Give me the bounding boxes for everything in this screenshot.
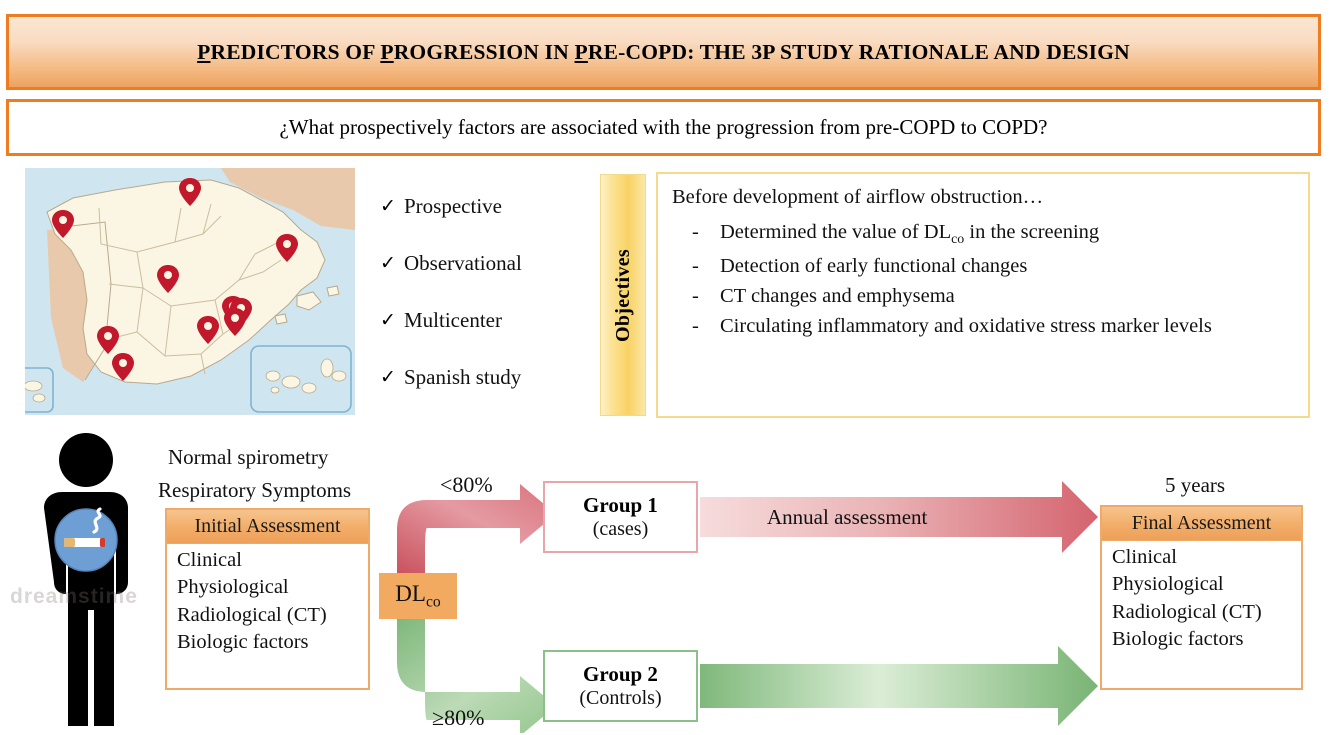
group2-subtitle: (Controls) bbox=[579, 686, 661, 710]
check-icon: ✓ bbox=[380, 195, 404, 218]
page-title-banner: PREDICTORS OF PROGRESSION IN PRE-COPD: T… bbox=[6, 14, 1321, 90]
initial-assessment-body: Clinical Physiological Radiological (CT)… bbox=[167, 544, 368, 658]
assessment-item: Physiological bbox=[177, 574, 368, 601]
check-icon: ✓ bbox=[380, 252, 404, 275]
person-silhouette bbox=[28, 430, 173, 730]
initial-assessment-header: Initial Assessment bbox=[167, 510, 368, 544]
group1-subtitle: (cases) bbox=[593, 517, 649, 541]
study-attributes-list: ✓ Prospective ✓ Observational ✓ Multicen… bbox=[380, 178, 585, 408]
objectives-tab: Objectives bbox=[600, 174, 646, 416]
assessment-item: Radiological (CT) bbox=[177, 602, 368, 629]
objectives-box: Before development of airflow obstructio… bbox=[656, 172, 1310, 418]
page-title: PREDICTORS OF PROGRESSION IN PRE-COPD: T… bbox=[197, 40, 1130, 65]
objective-label: Circulating inflammatory and oxidative s… bbox=[720, 315, 1212, 338]
objective-item: - Detection of early functional changes bbox=[672, 255, 1298, 278]
objective-label: Determined the value of DLco in the scre… bbox=[720, 221, 1099, 248]
person-head bbox=[59, 433, 113, 487]
objective-label: Detection of early functional changes bbox=[720, 255, 1027, 278]
list-item: ✓ Spanish study bbox=[380, 349, 585, 406]
objectives-intro: Before development of airflow obstructio… bbox=[672, 186, 1298, 209]
list-item: ✓ Observational bbox=[380, 235, 585, 292]
research-question-text: ¿What prospectively factors are associat… bbox=[279, 115, 1047, 140]
bullet-dash: - bbox=[672, 255, 720, 278]
five-years-label: 5 years bbox=[1165, 473, 1225, 498]
assessment-item: Biologic factors bbox=[177, 629, 368, 656]
final-assessment-body: Clinical Physiological Radiological (CT)… bbox=[1102, 541, 1301, 655]
group2-title: Group 2 bbox=[583, 662, 658, 686]
check-icon: ✓ bbox=[380, 309, 404, 332]
group2-box: Group 2 (Controls) bbox=[543, 650, 698, 722]
smoking-person-icon bbox=[28, 430, 173, 730]
list-item-label: Multicenter bbox=[404, 308, 502, 333]
bullet-dash: - bbox=[672, 221, 720, 248]
check-icon: ✓ bbox=[380, 366, 404, 389]
map-of-spain bbox=[25, 168, 355, 415]
list-item: ✓ Prospective bbox=[380, 178, 585, 235]
list-item-label: Prospective bbox=[404, 194, 502, 219]
objectives-panel: Objectives Before development of airflow… bbox=[600, 172, 1310, 418]
assessment-item: Radiological (CT) bbox=[1112, 599, 1301, 626]
assessment-item: Biologic factors bbox=[1112, 626, 1301, 653]
objective-label: CT changes and emphysema bbox=[720, 285, 955, 308]
branch-low-label: <80% bbox=[440, 472, 493, 498]
list-item-label: Observational bbox=[404, 251, 522, 276]
dlco-decision-node: DLco bbox=[379, 573, 457, 619]
group1-box: Group 1 (cases) bbox=[543, 481, 698, 553]
final-assessment-card: Final Assessment Clinical Physiological … bbox=[1100, 505, 1303, 690]
objective-item: - CT changes and emphysema bbox=[672, 285, 1298, 308]
objective-item: - Circulating inflammatory and oxidative… bbox=[672, 315, 1298, 338]
assessment-item: Clinical bbox=[1112, 544, 1301, 571]
dlco-label: DLco bbox=[395, 581, 440, 612]
final-assessment-header: Final Assessment bbox=[1102, 507, 1301, 541]
group1-title: Group 1 bbox=[583, 493, 658, 517]
list-item: ✓ Multicenter bbox=[380, 292, 585, 349]
bullet-dash: - bbox=[672, 285, 720, 308]
research-question-banner: ¿What prospectively factors are associat… bbox=[6, 99, 1321, 156]
bullet-dash: - bbox=[672, 315, 720, 338]
map-graphic bbox=[25, 168, 355, 415]
list-item-label: Spanish study bbox=[404, 365, 521, 390]
assessment-item: Clinical bbox=[177, 547, 368, 574]
control-followup-arrow bbox=[700, 646, 1098, 726]
respiratory-symptoms-label: Respiratory Symptoms bbox=[158, 478, 351, 503]
branch-high-label: ≥80% bbox=[432, 705, 484, 731]
assessment-item: Physiological bbox=[1112, 571, 1301, 598]
annual-assessment-label: Annual assessment bbox=[767, 505, 927, 530]
normal-spirometry-label: Normal spirometry bbox=[168, 445, 328, 470]
objectives-tab-label: Objectives bbox=[612, 249, 635, 342]
objective-item: - Determined the value of DLco in the sc… bbox=[672, 221, 1298, 248]
initial-assessment-card: Initial Assessment Clinical Physiologica… bbox=[165, 508, 370, 690]
cigarette-badge-icon bbox=[55, 509, 117, 571]
